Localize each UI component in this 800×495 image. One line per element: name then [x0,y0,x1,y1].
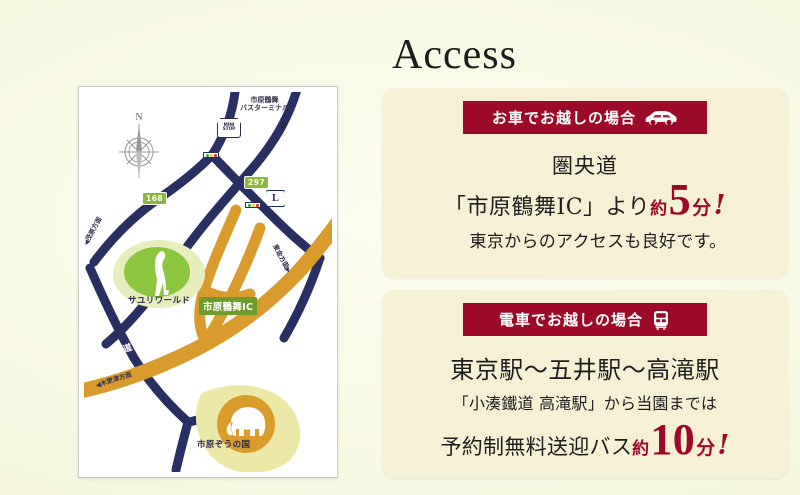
ministop-icon: MINI STOP [217,118,241,138]
car-line-note: 東京からのアクセスも良好です。 [382,227,788,252]
card-by-car-body: 圏央道 「市原鶴舞IC」より 約 5 分 ! 東京からのアクセスも良好です。 [382,150,788,252]
bus-terminal-label-line2: バスターミナル [240,104,289,112]
page-title: Access [392,34,517,76]
card-by-train-body: 東京駅〜五井駅〜高滝駅 「小湊鐵道 高滝駅」から当園までは 予約制無料送迎バス … [382,350,788,461]
bus-terminal-label-line1: 市原鶴舞 [240,96,289,104]
train-duration-mark: ! [717,430,729,461]
car-duration-number: 5 [669,182,692,217]
car-line-duration: 「市原鶴舞IC」より 約 5 分 ! [382,182,788,221]
card-by-car: お車でお越しの場合 圏央道 「市原鶴舞IC」より 約 5 分 ! 東京からのア [382,88,788,278]
train-line-shuttle: 予約制無料送迎バス 約 10 分 ! [382,422,788,461]
ichihara-zoo-label: 市原ぞうの国 [197,441,250,451]
train-duration-highlight: 約 10 分 ! [632,422,729,461]
car-duration-unit: 分 [692,193,712,220]
traffic-signal-icon [203,152,219,158]
lawson-label: L [272,194,279,204]
route-shield-297: 297 [244,176,269,189]
sayuri-world-label: サユリワールド [128,297,190,307]
traffic-signal-icon [245,202,261,208]
train-shuttle-prefix: 予約制無料送迎バス [440,431,632,461]
train-line-station-note: 「小湊鐵道 高滝駅」から当園までは [382,390,788,414]
car-icon [644,110,678,126]
card-by-train-header-label: 電車でお越しの場合 [499,309,643,330]
route-shield-168: 168 [142,192,167,205]
train-icon [651,310,671,330]
compass-north-label: N [115,112,163,123]
train-line-route: 東京駅〜五井駅〜高滝駅 [382,350,788,385]
interchange-label: 市原鶴舞IC [199,297,257,315]
ministop-label-line2: STOP [223,128,235,133]
train-duration-approx: 約 [632,434,649,459]
card-by-train: 電車でお越しの場合 東京駅〜五井駅〜高滝駅 「小湊鐵道 高滝駅」から当園までは … [382,290,788,478]
compass-rose: N [115,112,163,178]
card-by-car-header-label: お車でお越しの場合 [492,107,636,128]
lawson-icon: L [266,190,285,207]
train-duration-number: 10 [650,422,695,457]
access-map-panel[interactable]: N 市原鶴舞 バスターミナル [78,86,338,478]
car-duration-approx: 約 [650,194,668,219]
card-by-car-header: お車でお越しの場合 [463,101,707,134]
car-duration-prefix: 「市原鶴舞IC」より [444,189,650,221]
train-duration-unit: 分 [696,433,715,460]
card-by-train-header: 電車でお越しの場合 [463,303,707,336]
car-duration-highlight: 約 5 分 ! [650,182,726,221]
bus-terminal-label: 市原鶴舞 バスターミナル [240,96,289,112]
car-duration-mark: ! [714,190,726,221]
bus-terminal-marker [280,121,287,128]
access-page: N 市原鶴舞 バスターミナル [0,0,800,495]
map-canvas: N 市原鶴舞 バスターミナル [84,92,332,472]
car-line-expressway: 圏央道 [382,150,788,180]
